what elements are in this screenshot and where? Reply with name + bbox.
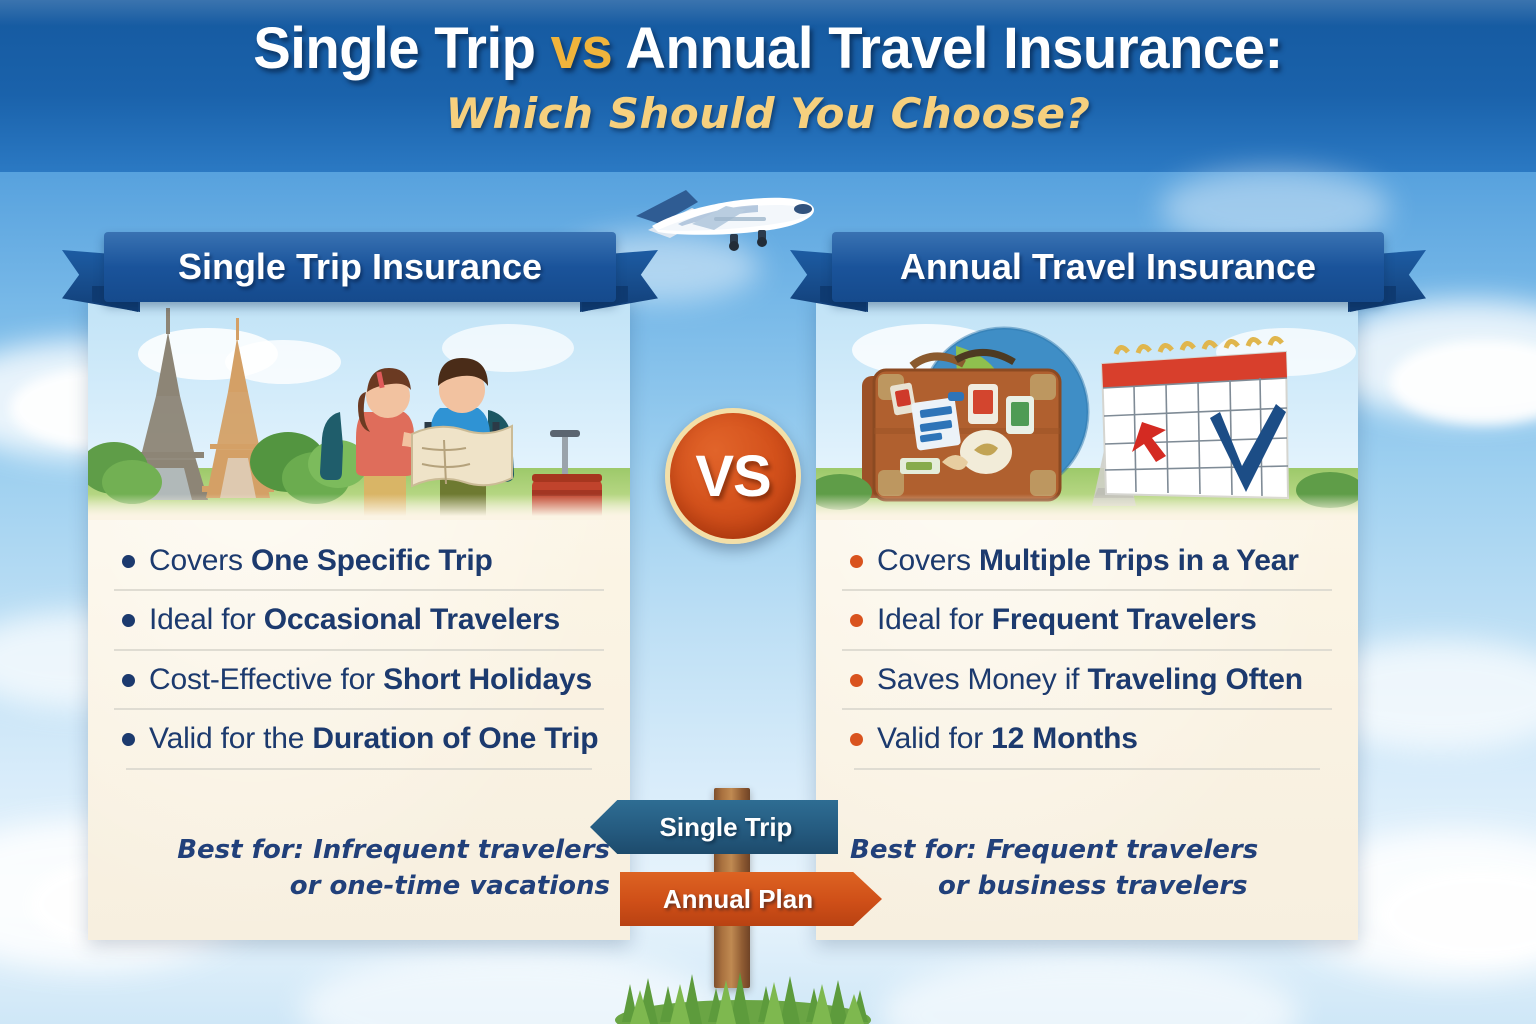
bullet-dot-icon bbox=[122, 733, 135, 746]
cloud bbox=[880, 955, 1300, 1024]
bullet-dot-icon bbox=[122, 555, 135, 568]
list-item-text: Covers Multiple Trips in a Year bbox=[877, 543, 1299, 578]
list-item-text-plain: Cost-Effective for bbox=[149, 663, 383, 696]
list-item-text-bold: Multiple Trips in a Year bbox=[979, 544, 1299, 577]
list-item: Valid for 12 Months bbox=[842, 708, 1332, 767]
list-item-text-plain: Valid for the bbox=[149, 722, 312, 755]
list-item: Covers Multiple Trips in a Year bbox=[842, 532, 1332, 589]
page-title: Single Trip vs Annual Travel Insurance: bbox=[23, 18, 1513, 81]
annual-travel-feature-list: Covers Multiple Trips in a Year Ideal fo… bbox=[816, 532, 1358, 770]
list-item-text-plain: Ideal for bbox=[149, 603, 264, 636]
single-trip-feature-list: Covers One Specific Trip Ideal for Occas… bbox=[88, 532, 630, 770]
grass-illustration bbox=[612, 950, 874, 1024]
list-item: Valid for the Duration of One Trip bbox=[114, 708, 604, 767]
annual-travel-banner-title: Annual Travel Insurance bbox=[900, 246, 1316, 288]
list-item-text: Ideal for Occasional Travelers bbox=[149, 602, 560, 637]
ribbon-band: Annual Travel Insurance bbox=[832, 232, 1384, 302]
list-item-text-bold: Frequent Travelers bbox=[992, 603, 1257, 636]
list-item-text-bold: 12 Months bbox=[991, 722, 1138, 755]
vs-badge-label: VS bbox=[695, 443, 770, 510]
illustration-fade bbox=[816, 494, 1358, 520]
single-trip-banner-title: Single Trip Insurance bbox=[178, 246, 542, 288]
airplane-icon bbox=[618, 172, 828, 258]
list-item-text-plain: Covers bbox=[877, 544, 979, 577]
ribbon-band: Single Trip Insurance bbox=[104, 232, 616, 302]
list-item-text-bold: One Specific Trip bbox=[251, 544, 493, 577]
list-item-text: Saves Money if Traveling Often bbox=[877, 662, 1303, 697]
list-item-text-bold: Short Holidays bbox=[383, 663, 592, 696]
title-vs-word: vs bbox=[551, 16, 613, 81]
signpost: Single Trip Annual Plan bbox=[590, 788, 890, 1024]
list-item: Saves Money if Traveling Often bbox=[842, 649, 1332, 708]
single-trip-best-for: Best for: Infrequent travelers or one-ti… bbox=[88, 833, 630, 904]
list-item-text-plain: Ideal for bbox=[877, 603, 992, 636]
title-text-part2: Annual Travel Insurance: bbox=[612, 16, 1282, 81]
single-trip-panel: Covers One Specific Trip Ideal for Occas… bbox=[88, 292, 630, 940]
list-item-text: Valid for 12 Months bbox=[877, 721, 1138, 756]
annual-travel-best-for: Best for: Frequent travelers or business… bbox=[816, 833, 1358, 904]
bullet-dot-icon bbox=[850, 614, 863, 627]
list-item-text-bold: Traveling Often bbox=[1087, 663, 1302, 696]
list-divider bbox=[854, 768, 1320, 770]
best-for-line2: or business travelers bbox=[850, 869, 1328, 904]
vs-badge: VS bbox=[665, 408, 801, 544]
bullet-dot-icon bbox=[850, 733, 863, 746]
list-item-text-plain: Saves Money if bbox=[877, 663, 1087, 696]
bullet-dot-icon bbox=[850, 555, 863, 568]
list-item-text-plain: Valid for bbox=[877, 722, 991, 755]
list-item: Cost-Effective for Short Holidays bbox=[114, 649, 604, 708]
annual-travel-panel: Covers Multiple Trips in a Year Ideal fo… bbox=[816, 292, 1358, 940]
single-trip-banner: Single Trip Insurance bbox=[62, 232, 658, 310]
best-for-line1: Best for: Frequent travelers bbox=[850, 833, 1328, 868]
header: Single Trip vs Annual Travel Insurance: … bbox=[0, 18, 1536, 138]
title-text-part1: Single Trip bbox=[253, 16, 550, 81]
list-item: Ideal for Occasional Travelers bbox=[114, 589, 604, 648]
signpost-single-trip-sign[interactable]: Single Trip bbox=[590, 800, 838, 854]
signpost-annual-plan-sign[interactable]: Annual Plan bbox=[620, 872, 882, 926]
bullet-dot-icon bbox=[122, 674, 135, 687]
single-trip-illustration bbox=[88, 292, 630, 520]
signpost-single-trip-label: Single Trip bbox=[660, 812, 793, 843]
list-item: Covers One Specific Trip bbox=[114, 532, 604, 589]
illustration-fade bbox=[88, 494, 630, 520]
best-for-line2: or one-time vacations bbox=[118, 869, 610, 904]
list-item-text-plain: Covers bbox=[149, 544, 251, 577]
list-item-text: Ideal for Frequent Travelers bbox=[877, 602, 1257, 637]
list-divider bbox=[126, 768, 592, 770]
bullet-dot-icon bbox=[122, 614, 135, 627]
list-item-text: Cost-Effective for Short Holidays bbox=[149, 662, 592, 697]
list-item-text: Valid for the Duration of One Trip bbox=[149, 721, 598, 756]
best-for-line1: Best for: Infrequent travelers bbox=[118, 833, 610, 868]
bullet-dot-icon bbox=[850, 674, 863, 687]
list-item: Ideal for Frequent Travelers bbox=[842, 589, 1332, 648]
signpost-annual-plan-label: Annual Plan bbox=[663, 884, 813, 915]
list-item-text-bold: Duration of One Trip bbox=[312, 722, 598, 755]
page-subtitle: Which Should You Choose? bbox=[0, 89, 1536, 138]
list-item-text: Covers One Specific Trip bbox=[149, 543, 493, 578]
list-item-text-bold: Occasional Travelers bbox=[264, 603, 560, 636]
annual-travel-banner: Annual Travel Insurance bbox=[790, 232, 1426, 310]
annual-travel-illustration bbox=[816, 292, 1358, 520]
